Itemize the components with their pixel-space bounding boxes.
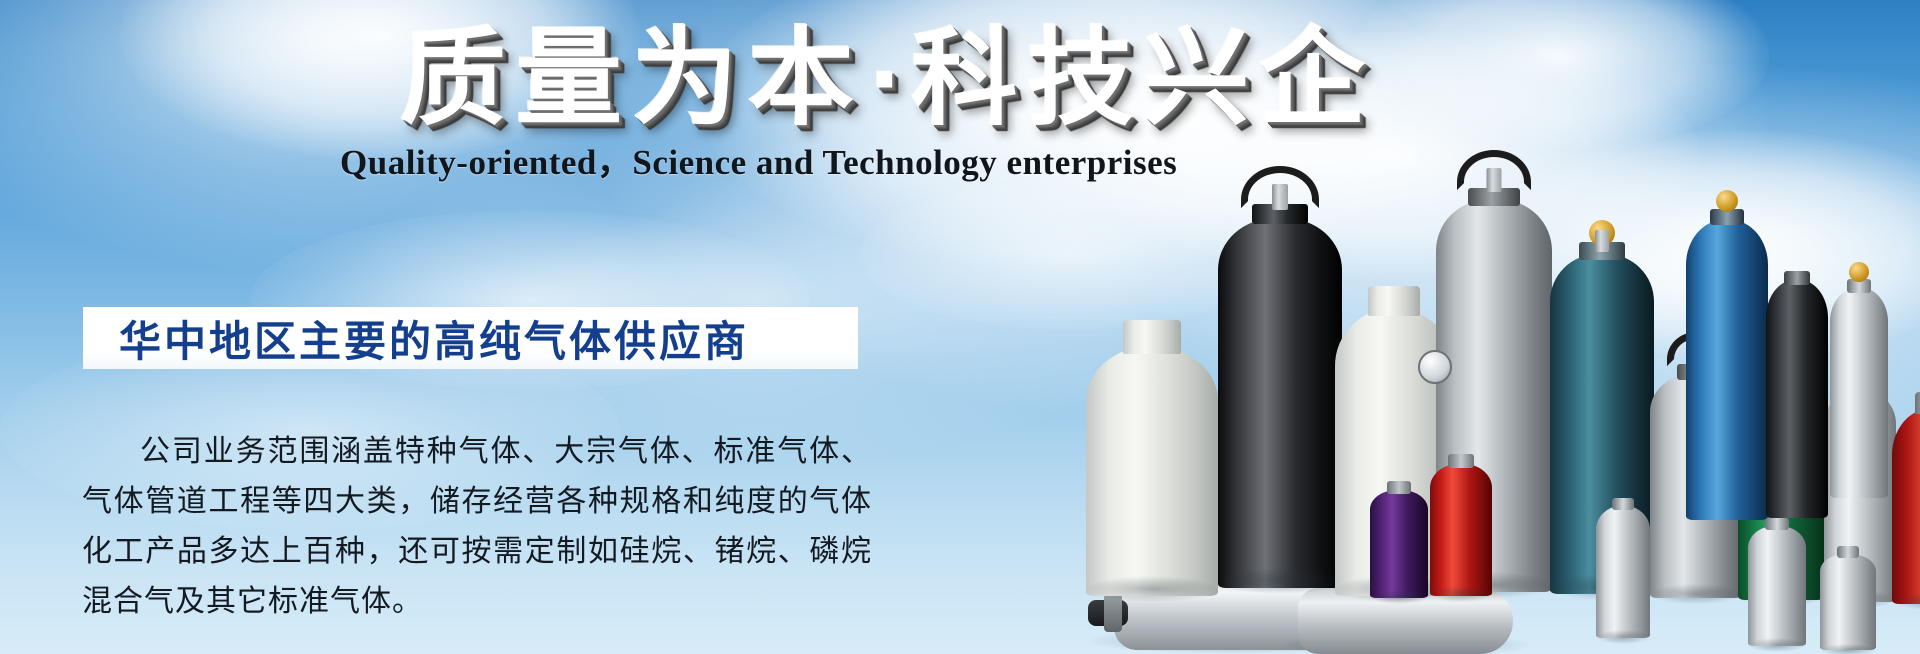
cylinder-dark-slim [1766,280,1828,518]
cylinder-silver-slim [1830,288,1888,498]
cylinder-red-small [1430,464,1492,596]
banner-headline: 质量为本·科技兴企 [400,22,1520,136]
cylinder-purple-small [1370,490,1428,598]
tagline-text: 华中地区主要的高纯气体供应商 [83,308,749,369]
headline-separator: · [864,20,911,138]
cylinder-blue-tall [1686,220,1768,520]
tagline-highlight-box: 华中地区主要的高纯气体供应商 [83,307,858,369]
cylinder-maroon [1892,408,1920,604]
cylinder-silver-front-2 [1748,526,1806,646]
hero-banner: 质量为本·科技兴企 Quality-oriented，Science and T… [0,0,1920,654]
cylinder-black-tall [1218,218,1342,588]
cylinder-silver-front-1 [1596,506,1650,638]
headline-left: 质量为本 [400,20,864,138]
banner-body-copy: 公司业务范围涵盖特种气体、大宗气体、标准气体、气体管道工程等四大类，储存经营各种… [82,427,872,627]
cylinder-silver-front-3 [1820,554,1876,650]
headline-right: 科技兴企 [911,20,1375,138]
gas-cylinder-group-image [1130,150,1920,654]
cylinder-white-large [1086,346,1218,596]
